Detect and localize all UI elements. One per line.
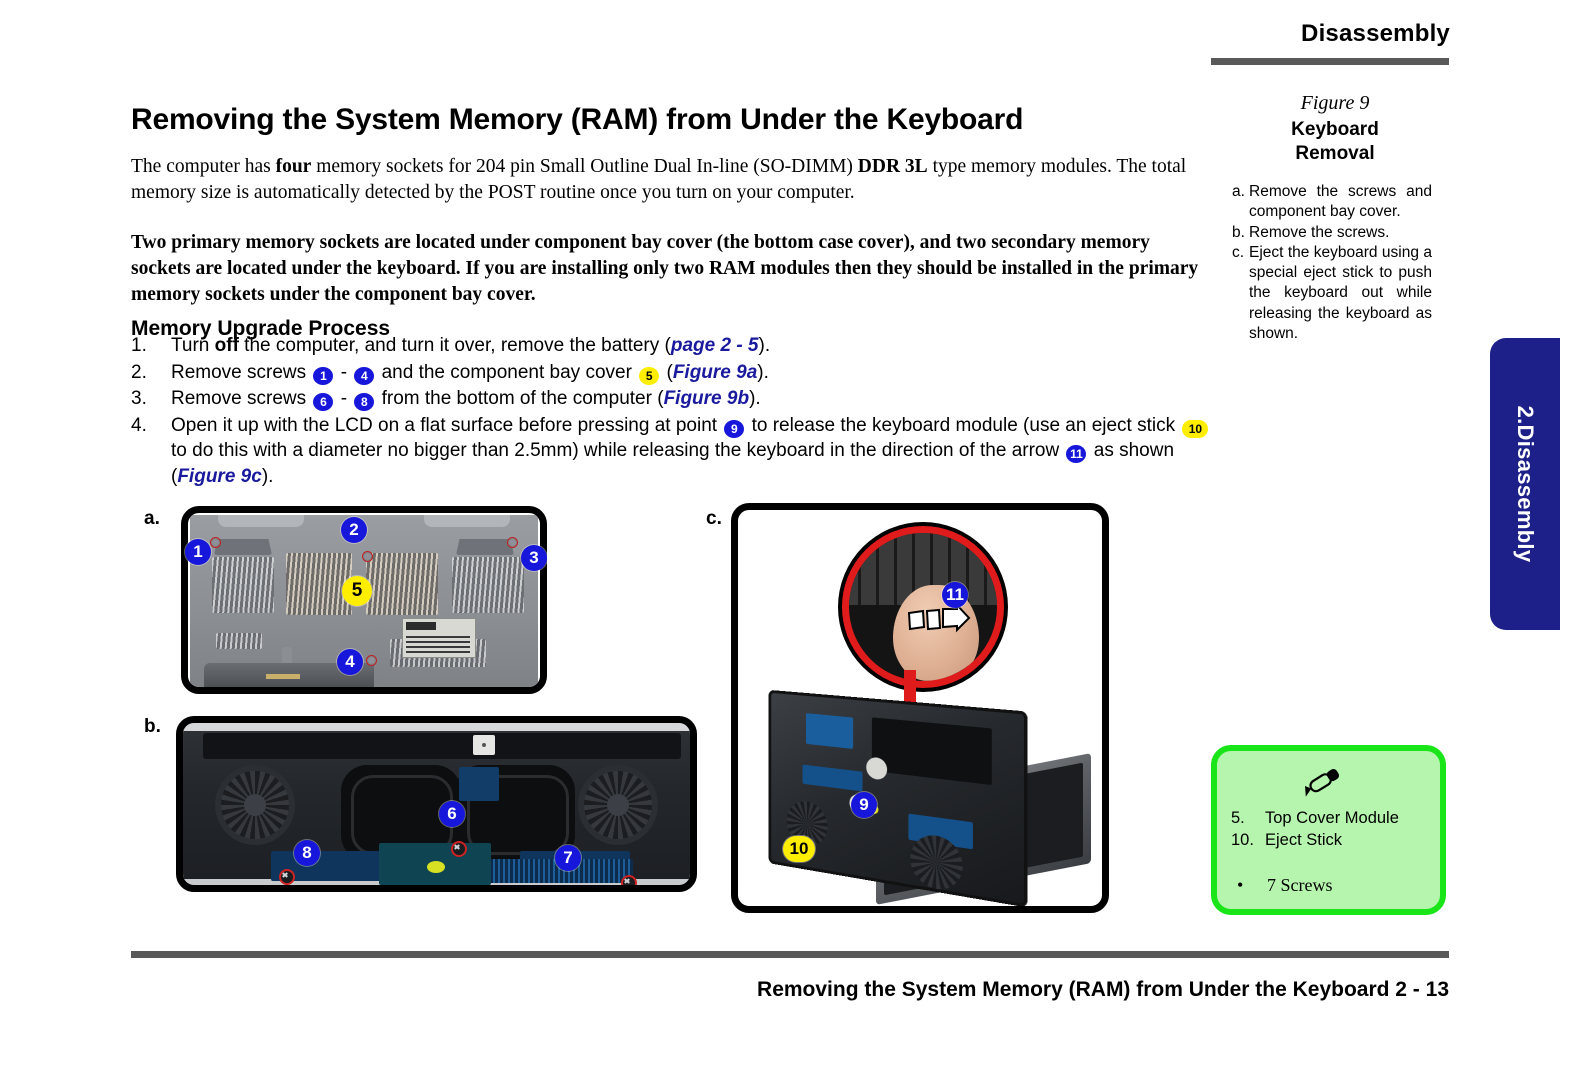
figure-callout-4: 4 xyxy=(337,649,363,675)
step-1-bold-off: off xyxy=(215,335,239,356)
step-3-frag-d: ). xyxy=(749,388,761,409)
screw-hole-1 xyxy=(210,537,221,548)
step-4-frag-b: to release the keyboard module (use an e… xyxy=(746,415,1180,436)
note-parts-list: 5. Top Cover Module 10. Eject Stick xyxy=(1231,807,1437,851)
sidebar-item-a: a. Remove the screws and component bay c… xyxy=(1232,182,1432,223)
step-1-frag-c: ). xyxy=(759,335,771,356)
vent-grille-4 xyxy=(452,557,524,613)
figure-callout-6: 6 xyxy=(439,801,465,827)
step-4: 4. Open it up with the LCD on a flat sur… xyxy=(131,413,1221,490)
vent-grille-5 xyxy=(216,633,262,649)
vent-grille-3 xyxy=(366,553,438,615)
step-4-frag-a: Open it up with the LCD on a flat surfac… xyxy=(171,415,722,436)
vent-grille-2 xyxy=(286,553,352,615)
cover-notch-left xyxy=(218,515,304,527)
step-3-frag-a: Remove screws xyxy=(171,388,311,409)
intro-bold-four: four xyxy=(276,156,312,177)
step-1: 1. Turn off the computer, and turn it ov… xyxy=(131,333,1221,359)
callout-badge-4: 4 xyxy=(354,367,374,385)
step-2-frag-c: and the component bay cover xyxy=(376,362,637,383)
step-1-number: 1. xyxy=(131,333,171,359)
sidebar-item-c-text: Eject the keyboard using a special eject… xyxy=(1249,243,1432,344)
memory-upgrade-steps: 1. Turn off the computer, and turn it ov… xyxy=(131,333,1221,490)
screw-hole-7 xyxy=(621,875,637,891)
step-1-text: Turn off the computer, and turn it over,… xyxy=(171,333,1221,359)
sidebar-figure-number: Figure 9 xyxy=(1240,92,1430,115)
page-title: Removing the System Memory (RAM) from Un… xyxy=(131,102,1211,138)
figure-callout-3: 3 xyxy=(521,545,547,571)
step-4-figure-ref[interactable]: Figure 9c xyxy=(177,466,261,487)
callout-badge-8: 8 xyxy=(354,393,374,411)
cooling-fan-left xyxy=(221,771,289,839)
page-header-chapter-title: Disassembly xyxy=(1000,20,1450,48)
gpu-board xyxy=(459,767,499,801)
footer-text: Removing the System Memory (RAM) from Un… xyxy=(500,978,1449,1002)
step-2-text: Remove screws 1 - 4 and the component ba… xyxy=(171,360,1221,386)
note-row-5-text: Top Cover Module xyxy=(1265,807,1399,829)
figure-callout-7: 7 xyxy=(555,845,581,871)
figure-9b-internal-view xyxy=(176,716,697,892)
screw-hole-6 xyxy=(451,841,467,857)
intro-frag-b: memory sockets for 204 pin Small Outline… xyxy=(311,156,857,177)
figure-label-a: a. xyxy=(144,508,160,530)
note-row-5-key: 5. xyxy=(1231,807,1265,829)
step-4-text: Open it up with the LCD on a flat surfac… xyxy=(171,413,1221,490)
sidebar-caption-list: a. Remove the screws and component bay c… xyxy=(1232,182,1432,344)
intro-paragraph: The computer has four memory sockets for… xyxy=(131,154,1203,206)
sidebar-item-b: b. Remove the screws. xyxy=(1232,223,1432,243)
figure-callout-9: 9 xyxy=(851,792,877,818)
callout-badge-5: 5 xyxy=(639,367,659,385)
step-3-figure-ref[interactable]: Figure 9b xyxy=(664,388,750,409)
sidebar-item-a-text: Remove the screws and component bay cove… xyxy=(1249,182,1432,223)
step-4-frag-c: to do this with a diameter no bigger tha… xyxy=(171,440,1064,461)
base-black-panel xyxy=(872,717,992,785)
vent-grille-1 xyxy=(212,557,274,613)
cover-pad-right xyxy=(456,539,514,555)
note-row-10: 10. Eject Stick xyxy=(1231,829,1437,851)
note-row-5: 5. Top Cover Module xyxy=(1231,807,1437,829)
cover-notch-right xyxy=(424,515,510,527)
base-blue-board-1 xyxy=(806,713,853,749)
white-push-arrow-icon xyxy=(907,607,971,633)
figure-callout-11: 11 xyxy=(942,582,968,608)
step-2-frag-a: Remove screws xyxy=(171,362,311,383)
callout-badge-6: 6 xyxy=(313,393,333,411)
figure-callout-2: 2 xyxy=(341,517,367,543)
callout-badge-1: 1 xyxy=(313,367,333,385)
intro-frag-a: The computer has xyxy=(131,156,276,177)
step-3-number: 3. xyxy=(131,386,171,412)
sidebar-item-b-text: Remove the screws. xyxy=(1249,223,1432,243)
step-2-frag-e: ). xyxy=(757,362,769,383)
step-3-frag-b: - xyxy=(335,388,352,409)
step-2: 2. Remove screws 1 - 4 and the component… xyxy=(131,360,1221,386)
laptop-open-photo xyxy=(756,700,1078,900)
sidebar-figure-title: Keyboard Removal xyxy=(1240,118,1430,166)
callout-badge-10: 10 xyxy=(1182,420,1208,438)
sidebar-item-c-key: c. xyxy=(1232,243,1249,263)
sidebar-item-a-key: a. xyxy=(1232,182,1249,202)
note-row-10-key: 10. xyxy=(1231,829,1265,851)
screw-hole-3 xyxy=(507,537,518,548)
yellow-sticker xyxy=(427,861,445,873)
screw-hole-2 xyxy=(362,551,373,562)
step-3-text: Remove screws 6 - 8 from the bottom of t… xyxy=(171,386,1221,412)
callout-badge-9: 9 xyxy=(724,420,744,438)
step-2-frag-b: - xyxy=(335,362,352,383)
figure-callout-1: 1 xyxy=(185,539,211,565)
manual-page: Disassembly Removing the System Memory (… xyxy=(0,0,1581,1076)
figure-callout-8: 8 xyxy=(294,840,320,866)
note-bullet-marker: • xyxy=(1237,875,1267,896)
keyboard-closeup-inset xyxy=(842,526,1004,688)
sidebar-figure-title-line1: Keyboard xyxy=(1240,118,1430,142)
footer-rule xyxy=(131,951,1449,958)
step-2-frag-d: ( xyxy=(661,362,673,383)
step-1-frag-b: the computer, and turn it over, remove t… xyxy=(239,335,671,356)
step-2-figure-ref[interactable]: Figure 9a xyxy=(673,362,757,383)
wireless-module xyxy=(473,735,495,755)
chassis-rim-top xyxy=(183,723,690,731)
callout-badge-11: 11 xyxy=(1066,445,1086,463)
step-2-number: 2. xyxy=(131,360,171,386)
screw-hole-8 xyxy=(279,869,295,885)
sidebar-item-b-key: b. xyxy=(1232,223,1249,243)
step-1-page-ref[interactable]: page 2 - 5 xyxy=(671,335,759,356)
step-1-frag-a: Turn xyxy=(171,335,215,356)
header-rule xyxy=(1211,58,1449,65)
regulatory-label xyxy=(402,618,476,658)
sidebar-figure-title-line2: Removal xyxy=(1240,142,1430,166)
base-blue-board-2 xyxy=(802,765,862,792)
figure-callout-10: 10 xyxy=(783,836,815,862)
figure-label-b: b. xyxy=(144,716,161,738)
chapter-side-tab[interactable]: 2.Disassembly xyxy=(1490,338,1560,630)
sidebar-item-c: c. Eject the keyboard using a special ej… xyxy=(1232,243,1432,344)
note-row-10-text: Eject Stick xyxy=(1265,829,1342,851)
step-3-frag-c: from the bottom of the computer ( xyxy=(376,388,663,409)
screw-hole-4 xyxy=(366,655,377,666)
note-bullet-text: 7 Screws xyxy=(1267,875,1333,896)
laptop-base-underside xyxy=(769,690,1028,908)
intro-bold-ddr: DDR 3L xyxy=(858,156,928,177)
step-4-number: 4. xyxy=(131,413,171,439)
parts-note-box: 5. Top Cover Module 10. Eject Stick • 7 … xyxy=(1211,745,1446,915)
figure-callout-5: 5 xyxy=(342,576,372,606)
heatsink-bar xyxy=(203,733,681,759)
pen-icon xyxy=(1303,763,1349,797)
step-3: 3. Remove screws 6 - 8 from the bottom o… xyxy=(131,386,1221,412)
note-bullet-row: • 7 Screws xyxy=(1237,875,1437,896)
step-4-frag-e: ). xyxy=(262,466,274,487)
sockets-paragraph: Two primary memory sockets are located u… xyxy=(131,230,1203,308)
chapter-side-tab-label: 2.Disassembly xyxy=(1490,338,1560,630)
laptop-internals-photo xyxy=(183,723,690,885)
figure-label-c: c. xyxy=(706,508,722,530)
cover-pad-left xyxy=(214,539,272,555)
cooling-fan-right xyxy=(584,771,652,839)
